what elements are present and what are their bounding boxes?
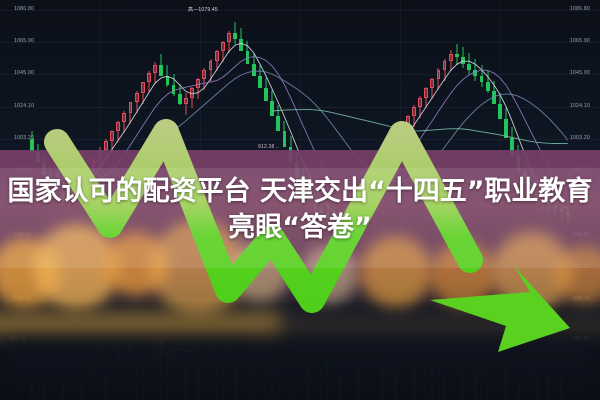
candle-body: [141, 82, 145, 93]
candle-body: [202, 70, 206, 79]
candle-body: [486, 82, 490, 91]
headline-line-1: 国家认可的配资平台 天津交出“十四五”职业教育: [8, 174, 593, 210]
candle-body: [467, 64, 471, 70]
candle-body: [246, 51, 250, 63]
candle-body: [239, 39, 243, 51]
candle-body: [190, 88, 194, 97]
candle-body: [449, 54, 453, 60]
candle-body: [430, 79, 434, 88]
candle-body: [184, 98, 188, 104]
candle-body: [122, 113, 126, 122]
price-axis-tick: 1024.10: [14, 104, 34, 109]
high-marker-annotation: 高—1079.45: [188, 8, 218, 13]
candle-body: [492, 91, 496, 103]
price-axis-tick: 1045.00: [570, 71, 590, 76]
candle-body: [276, 116, 280, 131]
price-axis-tick: 1086.80: [570, 7, 590, 12]
candle-body: [437, 70, 441, 79]
candle-body: [215, 51, 219, 60]
candle-body: [252, 64, 256, 76]
candle-body: [504, 119, 508, 138]
candle-body: [196, 79, 200, 88]
candle-wick: [185, 93, 186, 115]
candle-body: [153, 65, 157, 73]
headline-line-2: 亮眼“答卷”: [228, 210, 372, 246]
price-axis-tick: 1045.00: [14, 71, 34, 76]
low-marker-annotation: 912.38→: [258, 145, 280, 150]
candle-body: [209, 61, 213, 70]
chart-screenshot: 1086.801065.901045.001024.101003.20982.3…: [0, 0, 600, 400]
photo-fade-gradient: [0, 300, 600, 400]
candle-body: [480, 76, 484, 82]
candle-body: [264, 88, 268, 100]
candle-body: [147, 73, 151, 82]
candle-wick: [450, 50, 451, 72]
price-axis-tick: 1065.90: [14, 39, 34, 44]
candle-body: [135, 93, 139, 102]
candle-body: [424, 88, 428, 97]
candle-body: [233, 33, 237, 39]
candle-body: [393, 135, 397, 144]
candle-body: [498, 104, 502, 119]
candle-body: [227, 33, 231, 42]
price-axis-tick: 1024.10: [570, 104, 590, 109]
price-axis-tick: 1086.80: [14, 7, 34, 12]
candle-body: [258, 76, 262, 88]
price-axis-tick: 1065.90: [570, 39, 590, 44]
candle-body: [116, 122, 120, 131]
candle-body: [461, 57, 465, 63]
candle-body: [110, 131, 114, 140]
candle-body: [406, 116, 410, 125]
candle-body: [129, 102, 133, 113]
candle-body: [283, 131, 287, 146]
candle-body: [166, 76, 170, 85]
headline-overlay: 国家认可的配资平台 天津交出“十四五”职业教育 亮眼“答卷”: [0, 168, 600, 268]
candle-body: [473, 70, 477, 76]
candle-body: [400, 125, 404, 134]
candle-body: [443, 61, 447, 70]
candle-body: [455, 54, 459, 57]
candle-body: [270, 101, 274, 116]
candle-body: [172, 85, 176, 94]
candle-body: [159, 65, 163, 76]
candle-body: [412, 107, 416, 116]
candle-body: [418, 98, 422, 107]
candle-body: [104, 141, 108, 150]
price-axis-tick: 1003.20: [570, 136, 590, 141]
candle-body: [178, 94, 182, 103]
candle-body: [221, 42, 225, 51]
price-axis-tick: 1003.20: [14, 136, 34, 141]
